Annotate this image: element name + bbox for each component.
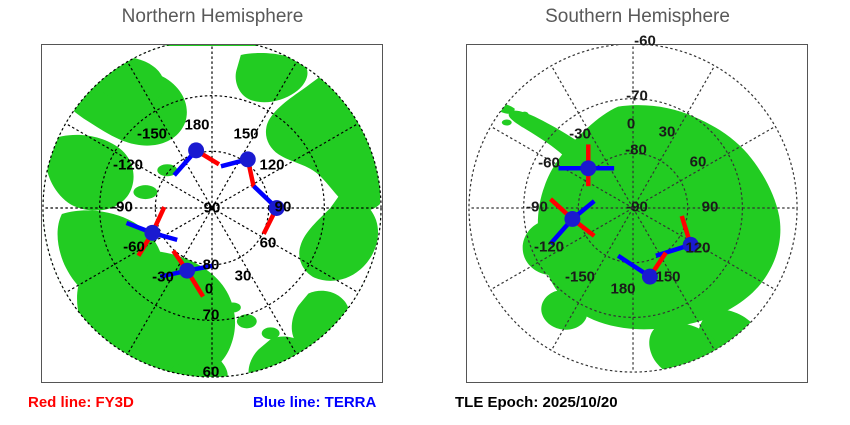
legend-row: Red line: FY3D Blue line: TERRA TLE Epoc… (0, 394, 850, 420)
satellite-ground-track-figure: Northern Hemisphere (0, 0, 850, 425)
southern-hemisphere-title: Southern Hemisphere (425, 6, 850, 28)
panel-northern-hemisphere: Northern Hemisphere (0, 0, 425, 425)
southern-hemisphere-plot-frame (466, 44, 808, 383)
panel-southern-hemisphere: Southern Hemisphere (425, 0, 850, 425)
legend-red-line-fy3d: Red line: FY3D (28, 394, 134, 411)
northern-hemisphere-plot-frame (41, 44, 383, 383)
legend-blue-line-terra: Blue line: TERRA (253, 394, 376, 411)
northern-hemisphere-map (42, 45, 382, 382)
legend-tle-epoch: TLE Epoch: 2025/10/20 (455, 394, 618, 411)
southern-hemisphere-map (467, 45, 807, 382)
northern-hemisphere-title: Northern Hemisphere (0, 6, 425, 28)
